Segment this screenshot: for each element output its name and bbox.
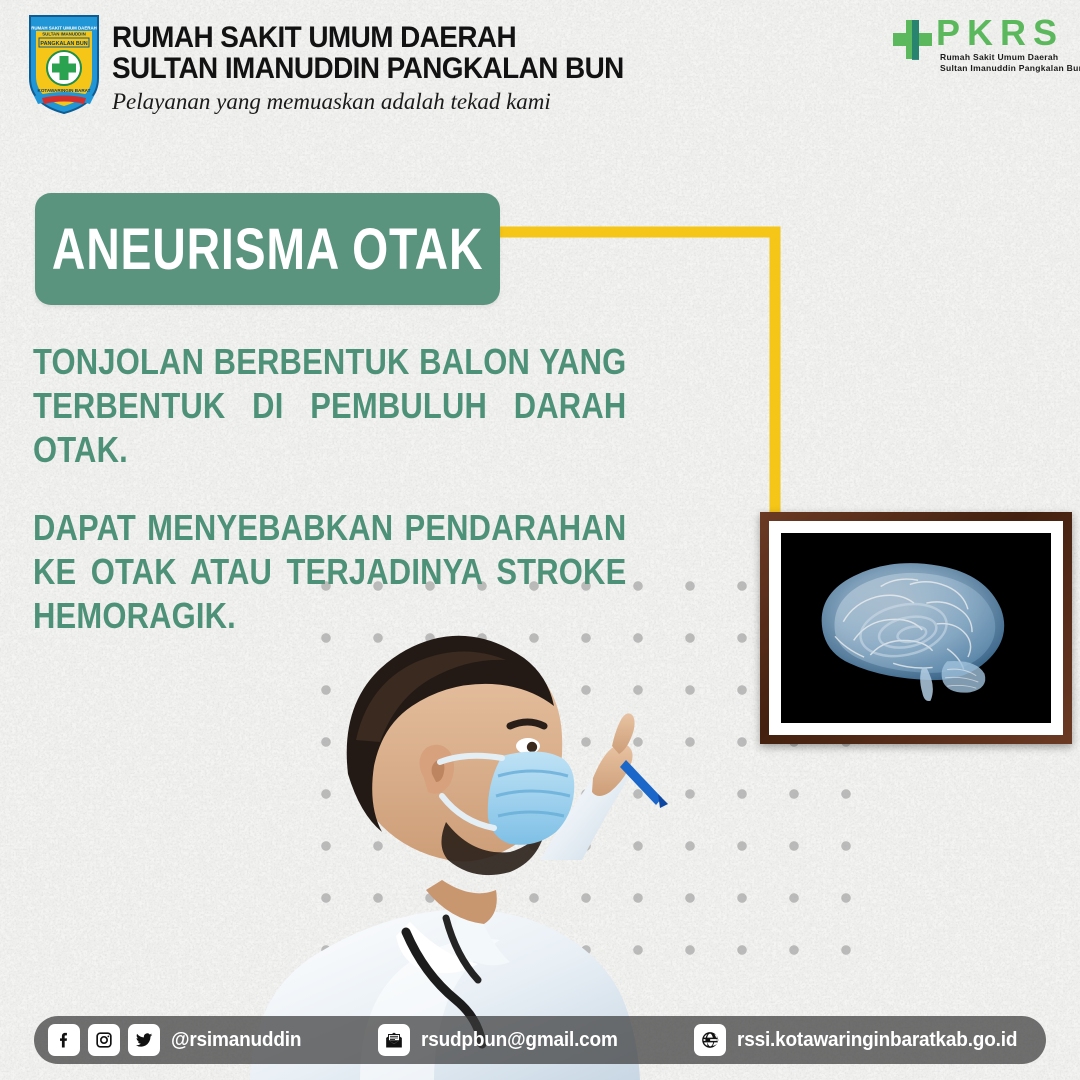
page-title: ANEURISMA OTAK <box>52 216 483 283</box>
page-title-badge: ANEURISMA OTAK <box>35 193 500 305</box>
email-address: rsudpbun@gmail.com <box>421 1029 618 1052</box>
pkrs-wordmark: PKRS <box>936 14 1064 52</box>
svg-text:SULTAN IMANUDDIN: SULTAN IMANUDDIN <box>42 32 86 37</box>
brain-xray-photo <box>781 533 1051 723</box>
website-url: rssi.kotawaringinbaratkab.go.id <box>737 1029 1017 1052</box>
poster-header: RUMAH SAKIT UMUM DAERAH SULTAN IMANUDDIN… <box>0 0 1080 128</box>
hospital-name-line1: RUMAH SAKIT UMUM DAERAH <box>112 22 624 53</box>
twitter-icon[interactable] <box>128 1024 160 1056</box>
hospital-shield-logo-icon: RUMAH SAKIT UMUM DAERAH SULTAN IMANUDDIN… <box>26 12 102 116</box>
email-group: rsudpbun@gmail.com <box>370 1024 628 1056</box>
hospital-tagline: Pelayanan yang memuaskan adalah tekad ka… <box>112 89 662 115</box>
poster-canvas: RUMAH SAKIT UMUM DAERAH SULTAN IMANUDDIN… <box>0 0 1080 1080</box>
hospital-brand-block: RUMAH SAKIT UMUM DAERAH SULTAN IMANUDDIN… <box>112 22 662 115</box>
doctor-pointing-illustration <box>210 560 770 1080</box>
facebook-icon[interactable] <box>48 1024 80 1056</box>
pkrs-subtitle: Rumah Sakit Umum Daerah Sultan Imanuddin… <box>940 52 1080 74</box>
body-paragraph-1: TONJOLAN BERBENTUK BALON YANG TERBENTUK … <box>33 340 626 472</box>
frame-mat <box>769 521 1063 735</box>
svg-text:RUMAH SAKIT UMUM DAERAH: RUMAH SAKIT UMUM DAERAH <box>31 26 97 31</box>
globe-icon[interactable] <box>694 1024 726 1056</box>
hospital-name-line2: SULTAN IMANUDDIN PANGKALAN BUN <box>112 53 624 84</box>
contact-footer-bar: @rsimanuddin rsudpbun@gmail.com rssi.kot… <box>34 1016 1046 1064</box>
picture-frame <box>760 512 1072 744</box>
instagram-icon[interactable] <box>88 1024 120 1056</box>
social-handle: @rsimanuddin <box>171 1029 301 1052</box>
svg-text:PANGKALAN BUN: PANGKALAN BUN <box>40 41 87 47</box>
pkrs-cross-icon <box>892 18 936 74</box>
website-group: rssi.kotawaringinbaratkab.go.id <box>686 1024 1032 1056</box>
social-group: @rsimanuddin <box>40 1024 308 1056</box>
email-icon[interactable] <box>378 1024 410 1056</box>
pkrs-subtitle-line1: Rumah Sakit Umum Daerah <box>940 52 1080 63</box>
pkrs-logo: PKRS Rumah Sakit Umum Daerah Sultan Iman… <box>892 16 1052 78</box>
pkrs-subtitle-line2: Sultan Imanuddin Pangkalan Bun <box>940 63 1080 74</box>
